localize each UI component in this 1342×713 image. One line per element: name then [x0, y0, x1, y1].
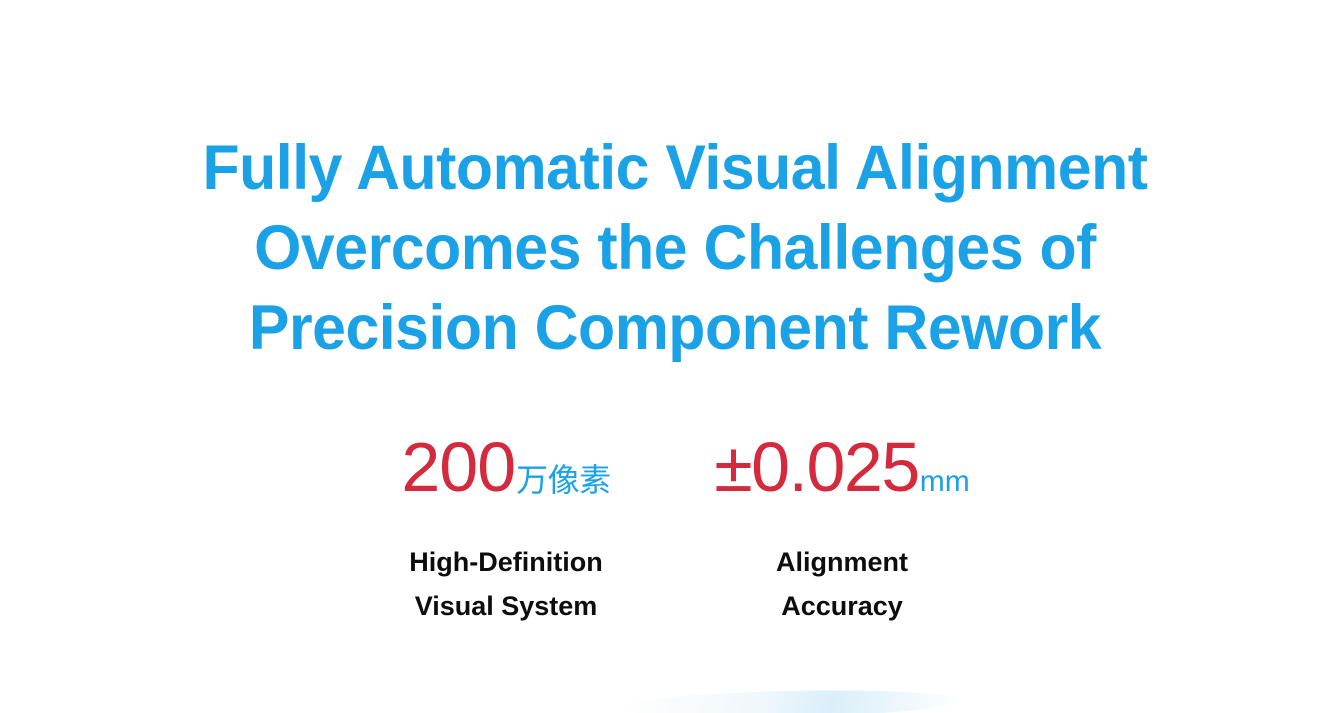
stat-caption-resolution-line-1: High-Definition — [409, 540, 602, 584]
page-title: Fully Automatic Visual Alignment Overcom… — [0, 128, 1342, 368]
stat-caption-resolution-line-2: Visual System — [409, 584, 602, 628]
stat-caption-accuracy-line-1: Alignment — [776, 540, 908, 584]
stats-row: 200 万像素 High-Definition Visual System ±0… — [330, 432, 1030, 652]
stat-caption-resolution: High-Definition Visual System — [409, 540, 602, 628]
stat-number-accuracy: ±0.025 — [714, 432, 919, 502]
stat-value-resolution: 200 万像素 — [401, 432, 610, 518]
title-line-2: Overcomes the Challenges of — [31, 208, 1318, 288]
stat-block-accuracy: ±0.025 mm Alignment Accuracy — [677, 432, 1007, 628]
bottom-decorative-accent — [620, 687, 960, 713]
stat-value-accuracy: ±0.025 mm — [714, 432, 970, 518]
stat-unit-accuracy: mm — [920, 467, 970, 497]
stat-unit-resolution: 万像素 — [516, 464, 611, 496]
stat-caption-accuracy-line-2: Accuracy — [776, 584, 908, 628]
stat-block-resolution: 200 万像素 High-Definition Visual System — [330, 432, 682, 628]
title-line-3: Precision Component Rework — [31, 288, 1318, 368]
stat-caption-accuracy: Alignment Accuracy — [776, 540, 908, 628]
title-line-1: Fully Automatic Visual Alignment — [31, 128, 1318, 208]
slide-canvas: Fully Automatic Visual Alignment Overcom… — [0, 0, 1342, 713]
stat-number-resolution: 200 — [401, 432, 515, 502]
